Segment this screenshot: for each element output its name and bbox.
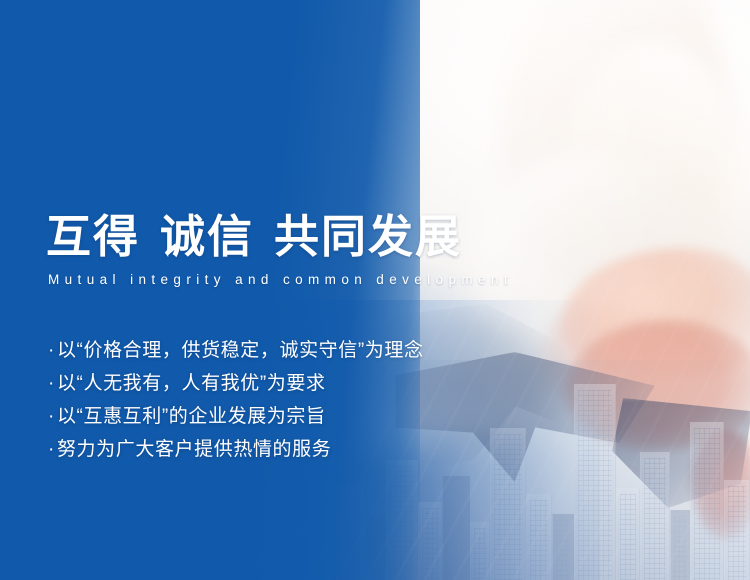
headline-part-1: 互得 (46, 211, 140, 262)
corporate-culture-banner: 互得诚信共同发展 Mutual integrity and common dev… (0, 0, 750, 580)
headline: 互得诚信共同发展 (46, 214, 462, 259)
banner-content: 互得诚信共同发展 Mutual integrity and common dev… (0, 0, 750, 580)
bullet-marker-icon: · (48, 334, 55, 367)
list-item: ·以“人无我有，人有我优”为要求 (48, 367, 424, 400)
list-item: ·努力为广大客户提供热情的服务 (48, 433, 424, 466)
bullet-marker-icon: · (48, 433, 55, 466)
bullet-marker-icon: · (48, 367, 55, 400)
list-item-label: 以“价格合理，供货稳定，诚实守信”为理念 (57, 340, 424, 361)
slogan-list: ·以“价格合理，供货稳定，诚实守信”为理念 ·以“人无我有，人有我优”为要求 ·… (48, 334, 424, 466)
list-item-label: 努力为广大客户提供热情的服务 (57, 439, 331, 460)
sub-headline: Mutual integrity and common development (48, 272, 513, 287)
list-item-label: 以“人无我有，人有我优”为要求 (57, 373, 326, 394)
headline-part-2: 诚信 (160, 211, 254, 262)
headline-part-3: 共同发展 (274, 211, 462, 262)
list-item: ·以“互惠互利”的企业发展为宗旨 (48, 400, 424, 433)
list-item: ·以“价格合理，供货稳定，诚实守信”为理念 (48, 334, 424, 367)
bullet-marker-icon: · (48, 400, 55, 433)
list-item-label: 以“互惠互利”的企业发展为宗旨 (57, 406, 326, 427)
